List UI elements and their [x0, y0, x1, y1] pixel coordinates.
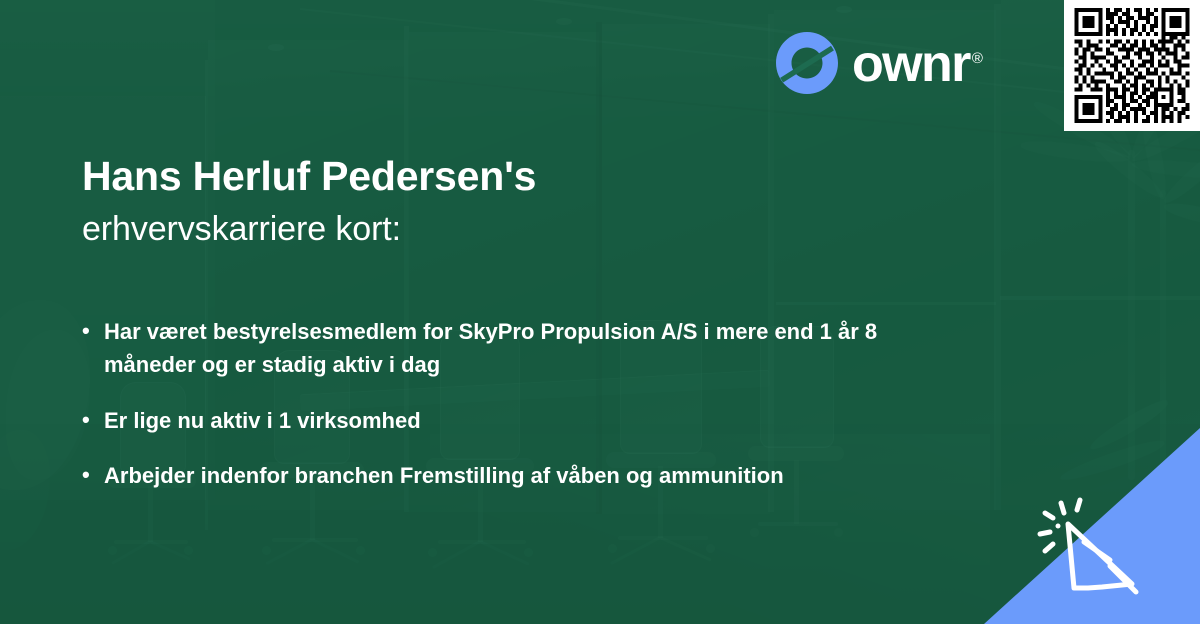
registered-trademark-mark: ®	[972, 50, 981, 67]
click-cursor-icon	[1036, 488, 1144, 600]
list-item: Arbejder indenfor branchen Fremstilling …	[82, 459, 962, 492]
page-title: Hans Herluf Pedersen's erhvervskarriere …	[82, 152, 536, 252]
list-item: Har været bestyrelsesmedlem for SkyPro P…	[82, 315, 962, 382]
corner-accent	[984, 428, 1200, 624]
career-fact-list: Har været bestyrelsesmedlem for SkyPro P…	[82, 315, 962, 493]
list-item: Er lige nu aktiv i 1 virksomhed	[82, 404, 962, 437]
qr-code-icon[interactable]	[1072, 8, 1192, 123]
career-summary-card: ownr®	[0, 0, 1200, 624]
title-line-secondary: erhvervskarriere kort:	[82, 207, 536, 251]
qr-code-panel[interactable]	[1064, 0, 1200, 131]
ownr-logo[interactable]: ownr®	[776, 32, 979, 94]
title-line-primary: Hans Herluf Pedersen's	[82, 152, 536, 200]
ownr-wordmark-text: ownr	[852, 35, 970, 93]
ownr-wordmark: ownr®	[852, 38, 979, 90]
ownr-circle-swoosh-icon	[776, 32, 838, 94]
